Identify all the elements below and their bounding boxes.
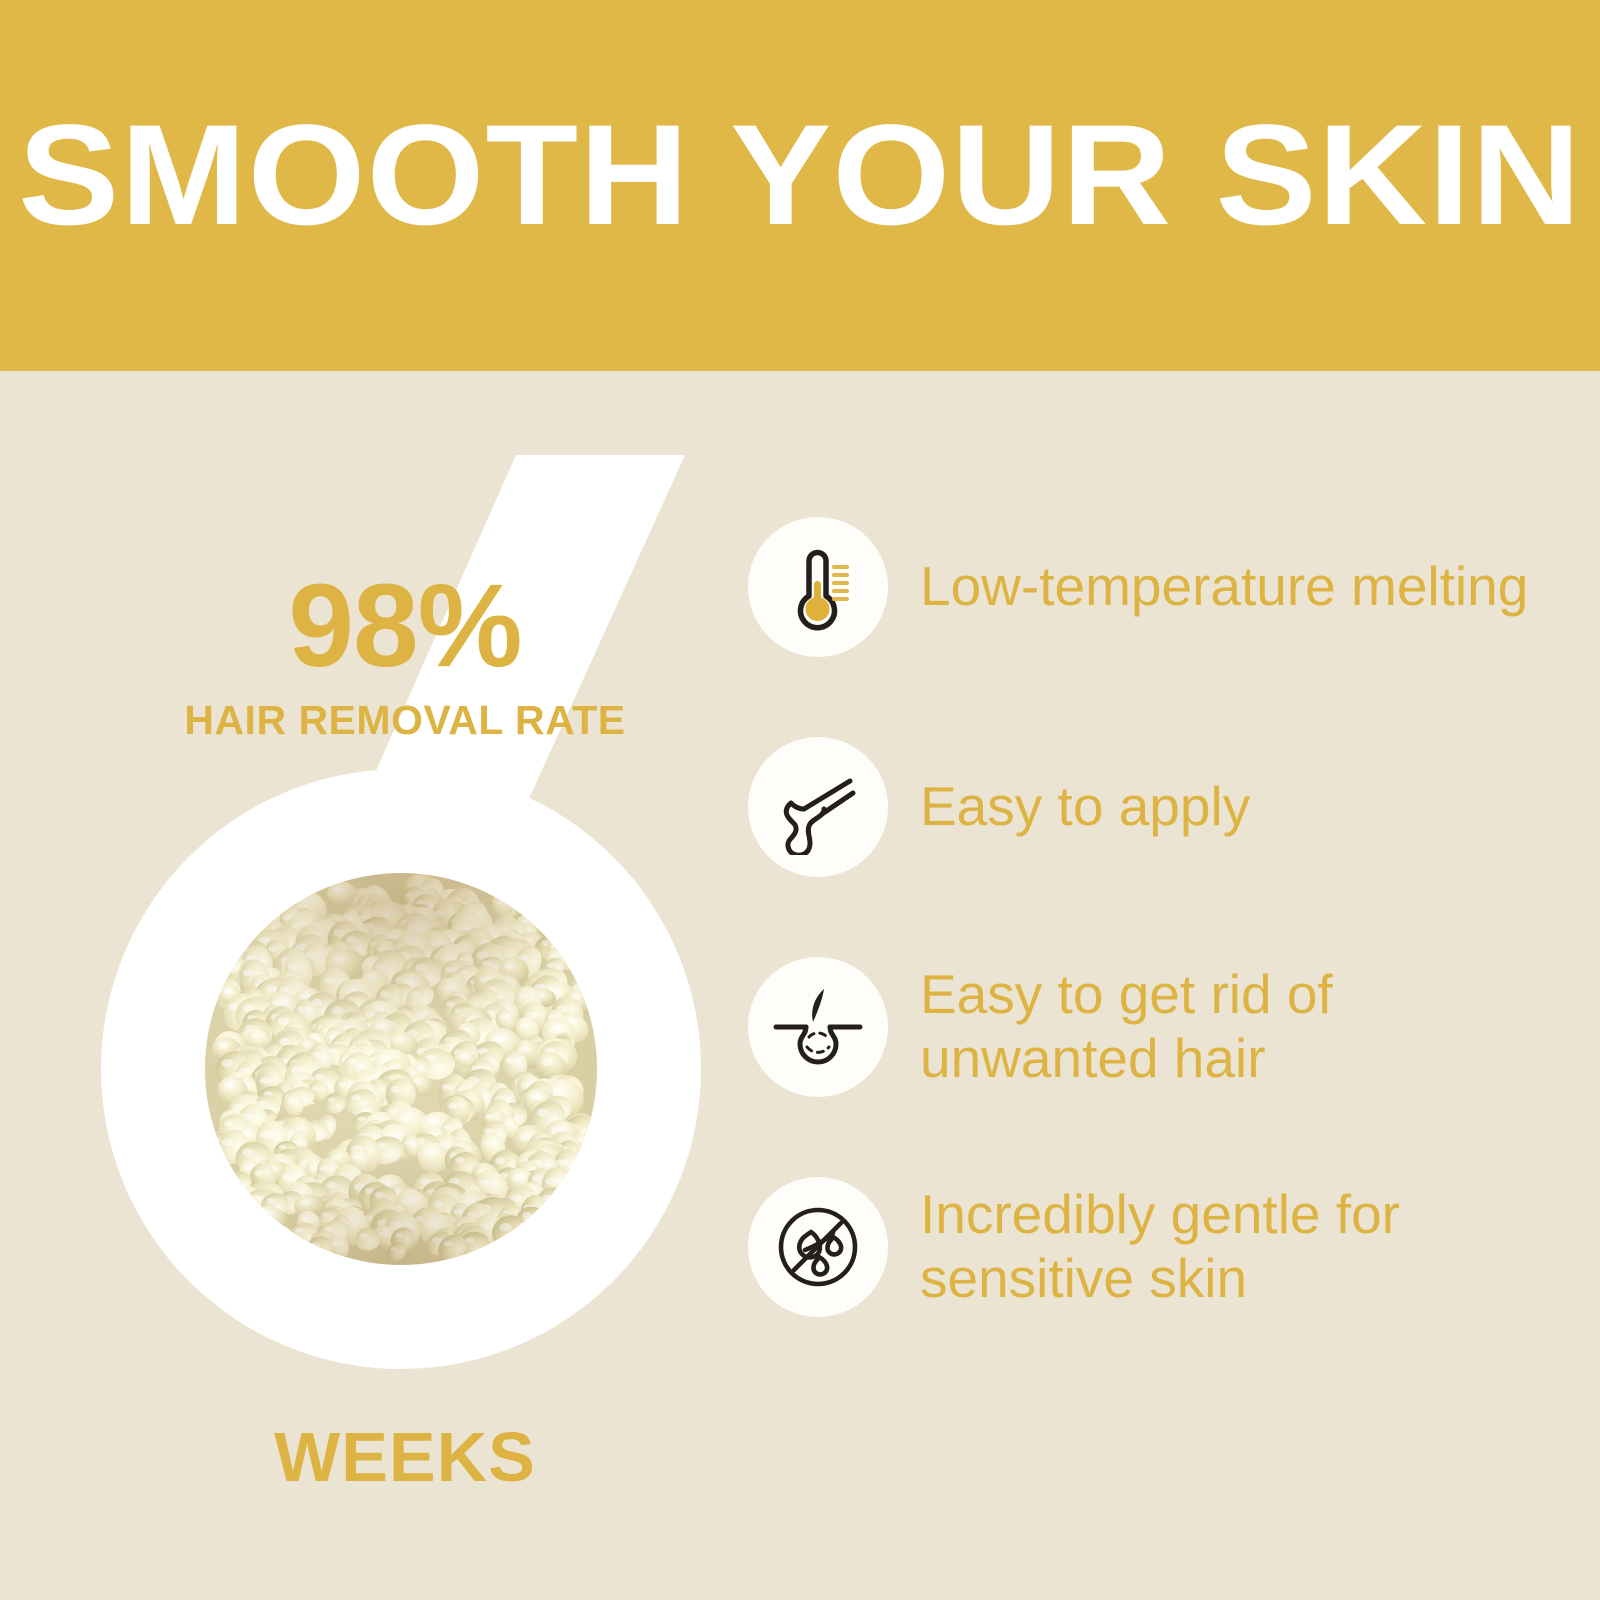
feature-item-easy-to-apply: Easy to apply [748,716,1548,898]
feature-item-remove-hair: Easy to get rid of unwanted hair [748,936,1548,1118]
feature-list: Low-temperature melting Easy to apply [748,496,1548,1338]
feature-item-sensitive-skin: Incredibly gentle for sensitive skin [748,1156,1548,1338]
tweezers-icon [748,737,888,877]
feature-label: Easy to apply [920,775,1250,839]
infographic-canvas: SMOOTH YOUR SKIN [0,0,1600,1600]
photo-shading [205,873,597,1265]
page-title: SMOOTH YOUR SKIN [0,104,1600,247]
hair-follicle-icon [748,957,888,1097]
feature-label: Easy to get rid of unwanted hair [920,963,1530,1091]
hair-removal-percent-label: HAIR REMOVAL RATE [115,700,695,741]
no-irritation-drop-icon [748,1177,888,1317]
duration-unit-label: WEEKS [115,1422,695,1492]
feature-label: Low-temperature melting [920,555,1528,619]
wax-beads-photo [205,873,597,1265]
thermometer-icon [748,517,888,657]
hair-removal-percent: 98% [115,567,695,685]
feature-label: Incredibly gentle for sensitive skin [920,1183,1530,1311]
feature-item-low-temperature: Low-temperature melting [748,496,1548,678]
